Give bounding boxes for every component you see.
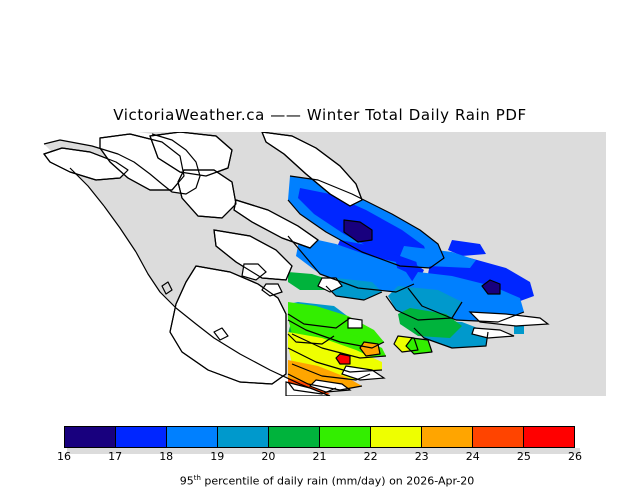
colorbar-segment-2[interactable] [167, 427, 218, 447]
map-svg [0, 132, 606, 396]
caption-rest: percentile of daily rain (mm/day) on 202… [201, 475, 474, 488]
colorbar-segment-1[interactable] [116, 427, 167, 447]
colorbar[interactable] [64, 426, 575, 448]
colorbar-segment-8[interactable] [473, 427, 524, 447]
colorbar-segment-0[interactable] [65, 427, 116, 447]
colorbar-segment-9[interactable] [524, 427, 574, 447]
colorbar-segment-4[interactable] [269, 427, 320, 447]
colorbar-caption: 95th percentile of daily rain (mm/day) o… [0, 461, 640, 501]
caption-superscript: th [194, 474, 201, 482]
caption-prefix: 95 [180, 475, 194, 488]
colorbar-segment-3[interactable] [218, 427, 269, 447]
page-title: VictoriaWeather.ca —— Winter Total Daily… [0, 106, 640, 124]
map-canvas[interactable] [0, 132, 606, 396]
colorbar-segment-5[interactable] [320, 427, 371, 447]
colorbar-segment-7[interactable] [422, 427, 473, 447]
colorbar-segment-6[interactable] [371, 427, 422, 447]
weather-map-page: VictoriaWeather.ca —— Winter Total Daily… [0, 0, 640, 480]
